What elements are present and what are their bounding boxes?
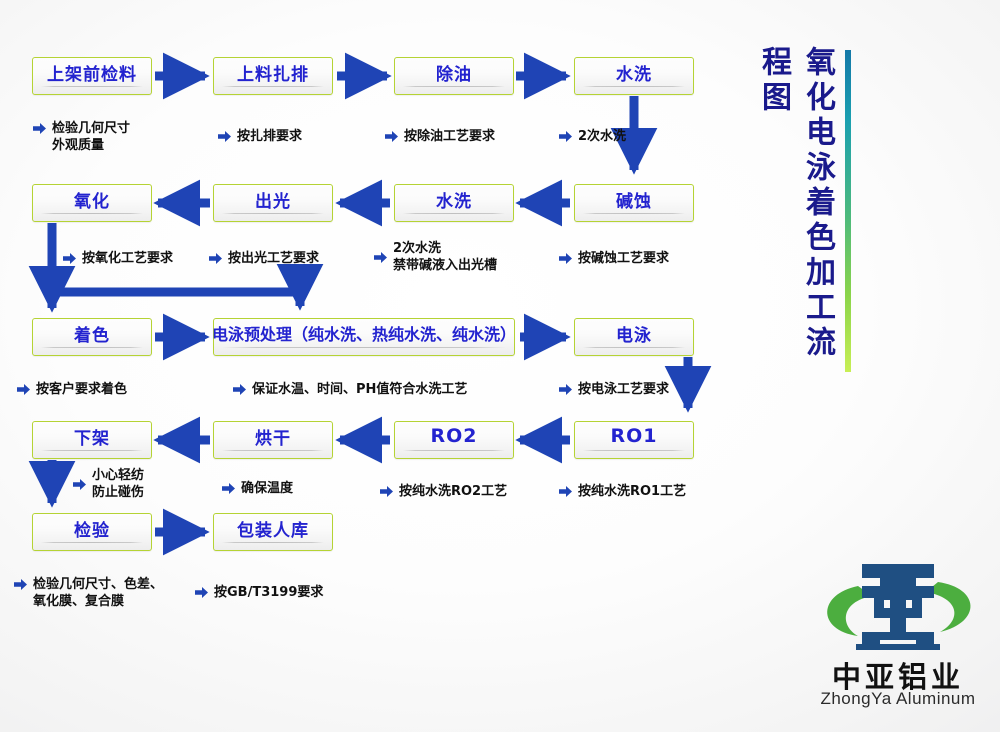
bullet-arrow-icon [559,486,572,497]
node-label: 水洗 [436,187,472,212]
node-label: 出光 [255,187,291,212]
note-text: 按纯水洗RO1工艺 [578,483,686,500]
note-jianshi: 按碱蚀工艺要求 [559,250,669,267]
bullet-arrow-icon [380,486,393,497]
arrow-n8-n10 [52,292,300,306]
node-baozhuangruku[interactable]: 包装人库 [213,513,333,551]
note-text: 按GB/T3199要求 [214,584,323,601]
company-logo: 中亚铝业 ZhongYa Aluminum [800,556,996,724]
bullet-arrow-icon [559,253,572,264]
node-label: 电泳 [616,321,652,346]
note-shuixi-1: 2次水洗 [559,128,626,145]
flowchart-page: 上架前检料 上料扎排 除油 水洗 碱蚀 水洗 出光 氧化 着色 电泳预处理（纯水… [0,0,1000,732]
node-chuyou[interactable]: 除油 [394,57,514,95]
node-dianyongyuchuli[interactable]: 电泳预处理（纯水洗、热纯水洗、纯水洗） [213,318,515,356]
note-ro2: 按纯水洗RO2工艺 [380,483,507,500]
node-ro1[interactable]: RO1 [574,421,694,459]
node-jianshi[interactable]: 碱蚀 [574,184,694,222]
note-zhapai: 按扎排要求 [218,128,302,145]
node-label: 烘干 [255,424,291,449]
logo-company-en: ZhongYa Aluminum [800,689,996,709]
bullet-arrow-icon [559,131,572,142]
note-text: 小心轻纺防止碰伤 [92,467,144,501]
bullet-arrow-icon [17,384,30,395]
note-yanghua: 按氧化工艺要求 [63,250,173,267]
note-dianyong: 按电泳工艺要求 [559,381,669,398]
node-label: 下架 [74,424,110,449]
note-baozhuang: 按GB/T3199要求 [195,584,323,601]
note-text: 按碱蚀工艺要求 [578,250,669,267]
node-shuixi-1[interactable]: 水洗 [574,57,694,95]
note-text: 按电泳工艺要求 [578,381,669,398]
bullet-arrow-icon [222,483,235,494]
bullet-arrow-icon [73,479,86,490]
note-honggan: 确保温度 [222,480,293,497]
note-ro1: 按纯水洗RO1工艺 [559,483,686,500]
node-yanghua[interactable]: 氧化 [32,184,152,222]
node-label: RO2 [430,425,477,447]
note-text: 按扎排要求 [237,128,302,145]
node-dianyong[interactable]: 电泳 [574,318,694,356]
note-dianyongyuchuli: 保证水温、时间、PH值符合水洗工艺 [233,381,467,398]
title-accent-bar [845,50,851,372]
note-text: 按出光工艺要求 [228,250,319,267]
note-jianyan: 检验几何尺寸、色差、氧化膜、复合膜 [14,576,163,610]
node-shuixi-2[interactable]: 水洗 [394,184,514,222]
note-chuguang: 按出光工艺要求 [209,250,319,267]
bullet-arrow-icon [63,253,76,264]
bullet-arrow-icon [14,579,27,590]
node-label: 着色 [74,321,110,346]
bullet-arrow-icon [33,123,46,134]
node-zhuose[interactable]: 着色 [32,318,152,356]
node-label: 检验 [74,516,110,541]
bullet-arrow-icon [385,131,398,142]
logo-mark-icon [800,556,996,652]
note-zhuose: 按客户要求着色 [17,381,127,398]
bullet-arrow-icon [559,384,572,395]
note-xiajia: 小心轻纺防止碰伤 [73,467,144,501]
bullet-arrow-icon [209,253,222,264]
note-text: 检验几何尺寸外观质量 [52,120,130,154]
bullet-arrow-icon [218,131,231,142]
node-ro2[interactable]: RO2 [394,421,514,459]
note-text: 2次水洗禁带碱液入出光槽 [393,240,497,274]
bullet-arrow-icon [195,587,208,598]
node-chuguang[interactable]: 出光 [213,184,333,222]
note-text: 按客户要求着色 [36,381,127,398]
node-label: 碱蚀 [616,187,652,212]
node-label: 电泳预处理（纯水洗、热纯水洗、纯水洗） [212,321,516,345]
page-title: 氧化电泳着色加工流程图 [793,46,839,376]
node-shangliaozhapai[interactable]: 上料扎排 [213,57,333,95]
node-label: 水洗 [616,60,652,85]
node-shangjiaqianjianliao[interactable]: 上架前检料 [32,57,152,95]
note-text: 检验几何尺寸、色差、氧化膜、复合膜 [33,576,163,610]
node-jianyan[interactable]: 检验 [32,513,152,551]
bullet-arrow-icon [374,252,387,263]
note-text: 2次水洗 [578,128,626,145]
note-text: 按氧化工艺要求 [82,250,173,267]
node-xiajia[interactable]: 下架 [32,421,152,459]
node-label: 除油 [436,60,472,85]
node-label: 氧化 [74,187,110,212]
note-jianliao: 检验几何尺寸外观质量 [33,120,130,154]
node-label: 上料扎排 [237,60,309,85]
note-text: 确保温度 [241,480,293,497]
node-label: 包装人库 [237,516,309,541]
note-text: 保证水温、时间、PH值符合水洗工艺 [252,381,467,398]
bullet-arrow-icon [233,384,246,395]
note-text: 按除油工艺要求 [404,128,495,145]
node-label: RO1 [610,425,657,447]
note-chuyou: 按除油工艺要求 [385,128,495,145]
note-shuixi-2: 2次水洗禁带碱液入出光槽 [374,240,497,274]
node-honggan[interactable]: 烘干 [213,421,333,459]
node-label: 上架前检料 [47,60,137,85]
note-text: 按纯水洗RO2工艺 [399,483,507,500]
